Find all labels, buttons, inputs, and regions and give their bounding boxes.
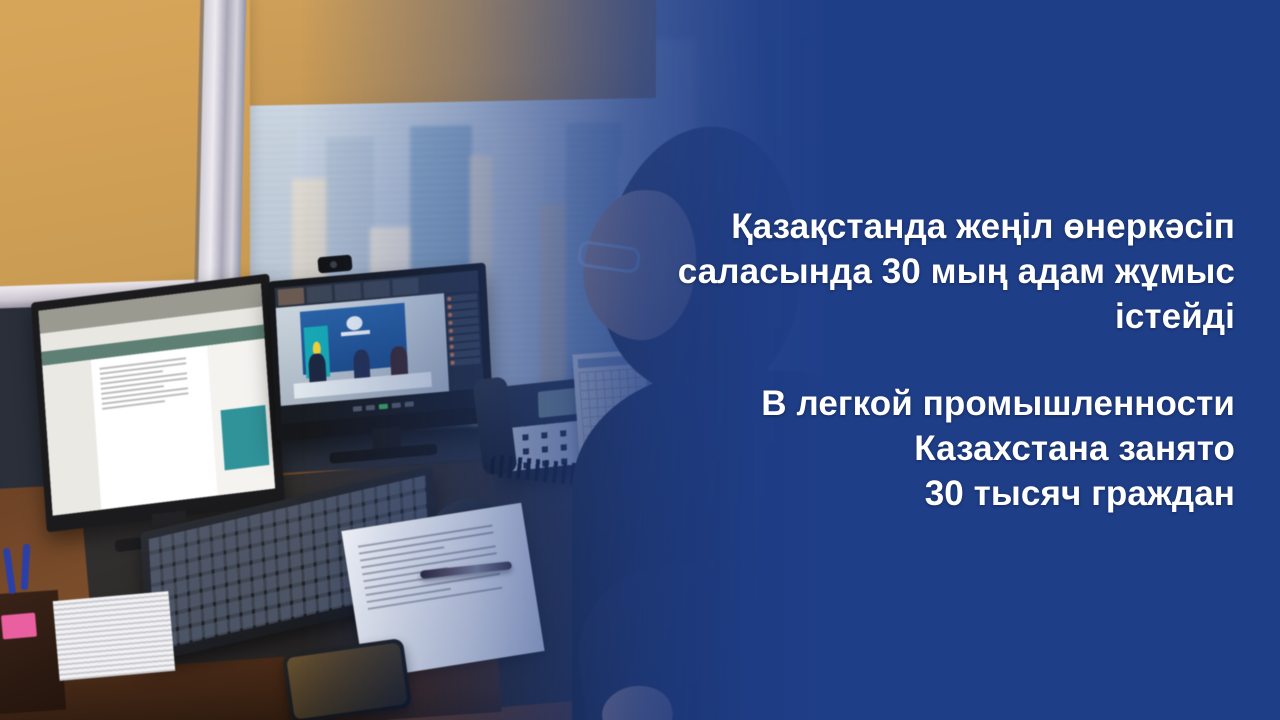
blue-gradient-overlay	[0, 0, 1280, 720]
news-banner: Қазақстанда жеңіл өнеркәсіп саласында 30…	[0, 0, 1280, 720]
